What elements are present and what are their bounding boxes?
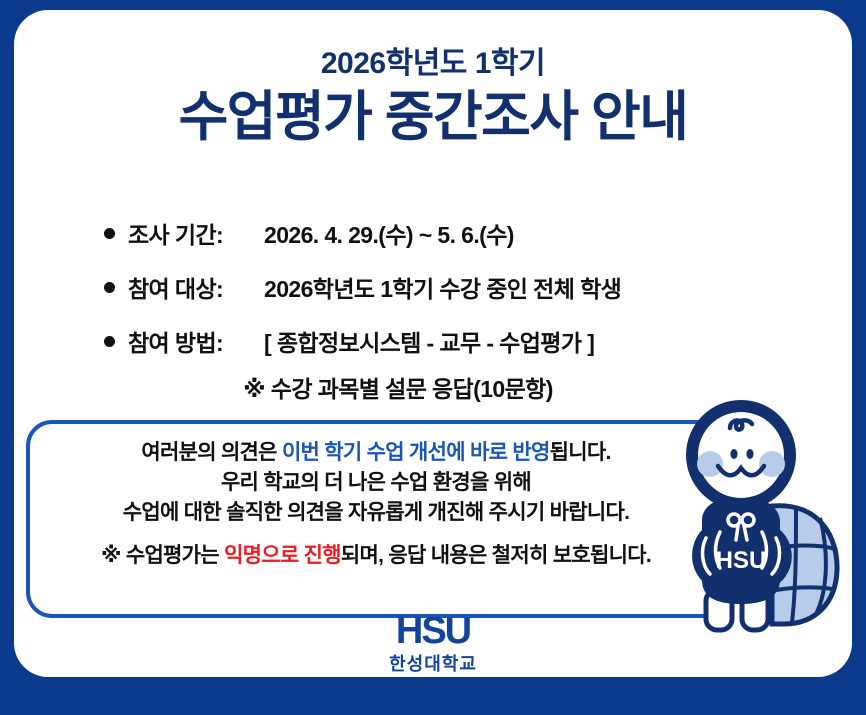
- message-line-1-highlight: 이번 학기 수업 개선에 바로 반영: [282, 441, 550, 464]
- list-item: 조사 기간: 2026. 4. 29.(수) ~ 5. 6.(수): [104, 216, 621, 250]
- message-line-4-part-b: 되며, 응답 내용은 철저히 보호됩니다.: [341, 544, 651, 567]
- message-line-4-highlight: 익명으로 진행: [224, 544, 341, 567]
- bottom-accent-bar: [0, 693, 866, 715]
- info-value: 2026학년도 1학기 수강 중인 전체 학생: [264, 270, 621, 304]
- bullet-dot-icon: [104, 336, 115, 347]
- logo-name: 한성대학교: [0, 655, 866, 673]
- bullet-dot-icon: [104, 228, 115, 239]
- mascot-head: [686, 400, 796, 510]
- message-spacer: [26, 527, 726, 541]
- message-line-2: 우리 학교의 더 나은 수업 환경을 위해: [26, 468, 726, 498]
- mascot-turtle-icon: HSU: [680, 398, 848, 640]
- message-line-1: 여러분의 의견은 이번 학기 수업 개선에 바로 반영됩니다.: [26, 438, 726, 468]
- poster-root: 2026학년도 1학기 수업평가 중간조사 안내 조사 기간: 2026. 4.…: [0, 0, 866, 715]
- message-line-4-part-a: ※ 수업평가는: [101, 544, 224, 567]
- mascot-body: HSU: [694, 496, 791, 604]
- info-list: 조사 기간: 2026. 4. 29.(수) ~ 5. 6.(수) 참여 대상:…: [104, 216, 621, 378]
- message-line-1-part-a: 여러분의 의견은: [141, 441, 282, 464]
- info-label: 조사 기간:: [128, 216, 256, 250]
- title-block: 2026학년도 1학기 수업평가 중간조사 안내: [0, 48, 866, 148]
- list-item: 참여 대상: 2026학년도 1학기 수강 중인 전체 학생: [104, 270, 621, 304]
- info-label: 참여 방법:: [128, 324, 256, 358]
- info-label: 참여 대상:: [128, 270, 256, 304]
- list-item: 참여 방법: [ 종합정보시스템 - 교무 - 수업평가 ]: [104, 324, 621, 358]
- page-title: 수업평가 중간조사 안내: [0, 86, 866, 148]
- message-line-4: ※ 수업평가는 익명으로 진행되며, 응답 내용은 철저히 보호됩니다.: [26, 541, 726, 571]
- message-line-3: 수업에 대한 솔직한 의견을 자유롭게 개진해 주시기 바랍니다.: [26, 498, 726, 528]
- message-text-group: 여러분의 의견은 이번 학기 수업 개선에 바로 반영됩니다. 우리 학교의 더…: [26, 438, 726, 571]
- bullet-dot-icon: [104, 282, 115, 293]
- message-line-1-part-b: 됩니다.: [550, 441, 611, 464]
- info-value: [ 종합정보시스템 - 교무 - 수업평가 ]: [264, 324, 594, 358]
- mascot-chest-text: HSU: [716, 547, 767, 574]
- info-value: 2026. 4. 29.(수) ~ 5. 6.(수): [264, 216, 514, 250]
- title-kicker: 2026학년도 1학기: [0, 48, 866, 80]
